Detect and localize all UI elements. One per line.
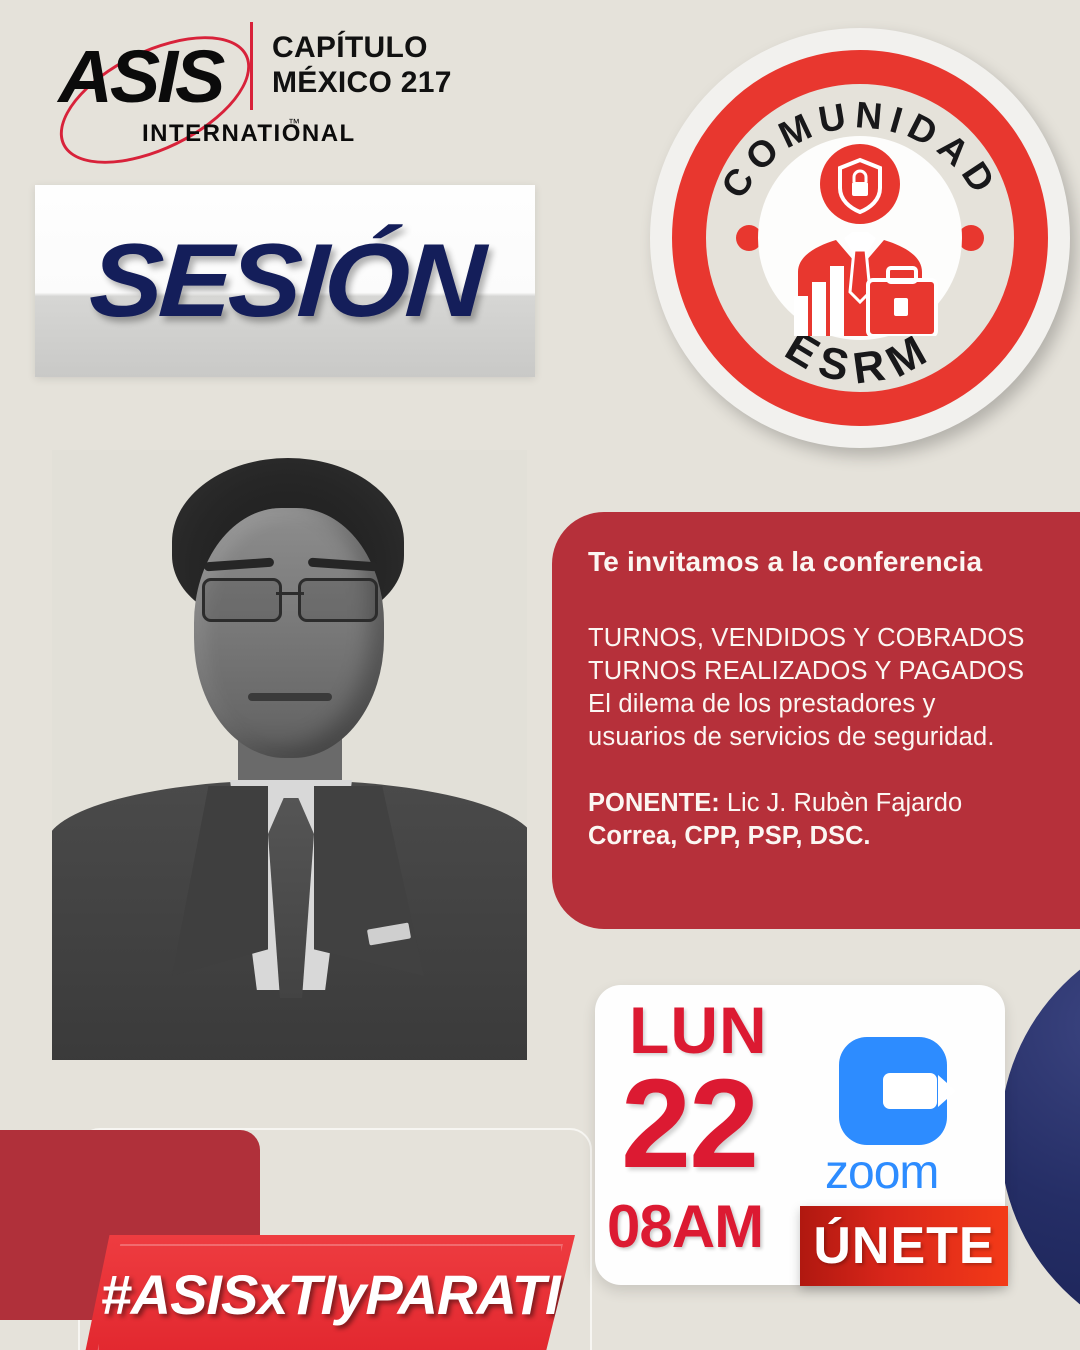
event-time: 08AM — [607, 1197, 763, 1257]
comunidad-esrm-badge: COMUNIDAD ESRM — [650, 28, 1070, 448]
navy-decor-circle — [1000, 922, 1080, 1350]
photo-face — [194, 508, 384, 758]
topic-line-1: TURNOS, VENDIDOS Y COBRADOS — [588, 622, 1044, 655]
photo-lens-right — [298, 578, 378, 622]
speaker-name-line-1: Lic J. Rubèn Fajardo — [720, 789, 962, 817]
speaker-name-line-2: Correa, CPP, PSP, DSC. — [588, 820, 1044, 854]
asis-logo-word: ASIS — [58, 40, 222, 114]
sesion-banner: SESIÓN — [35, 185, 535, 377]
photo-mouth — [248, 693, 332, 701]
security-professional-icon — [768, 140, 952, 336]
chapter-line-2: MÉXICO 217 — [272, 65, 452, 100]
day-number: 22 — [621, 1061, 757, 1187]
zoom-camera-icon — [839, 1037, 947, 1145]
photo-glasses-icon — [202, 578, 378, 618]
join-button[interactable]: ÚNETE — [800, 1206, 1008, 1286]
zoom-camera-body — [883, 1073, 937, 1109]
conference-info-panel: Te invitamos a la conferencia TURNOS, VE… — [552, 512, 1080, 929]
invitation-title: Te invitamos a la conferencia — [588, 546, 1044, 578]
topic-line-2: TURNOS REALIZADOS Y PAGADOS — [588, 655, 1044, 688]
speaker-label: PONENTE: — [588, 789, 720, 817]
hashtag-text: #ASISxTIyPARATI — [100, 1262, 559, 1327]
photo-lens-left — [202, 578, 282, 622]
speaker-photo — [52, 450, 527, 1060]
zoom-camera-lens — [938, 1075, 956, 1107]
panel-spacer — [588, 755, 1044, 787]
chapter-line-1: CAPÍTULO — [272, 30, 452, 65]
chapter-title: CAPÍTULO MÉXICO 217 — [272, 30, 452, 101]
join-button-label: ÚNETE — [813, 1220, 994, 1272]
header-divider — [250, 22, 253, 110]
hashtag-banner: #ASISxTIyPARATI — [85, 1235, 575, 1350]
asis-logo-subtitle: INTERNATIONAL — [142, 120, 356, 148]
trademark-icon: ™ — [288, 116, 300, 130]
sesion-title: SESIÓN — [87, 229, 484, 333]
speaker-credit: PONENTE: Lic J. Rubèn Fajardo Correa, CP… — [588, 787, 1044, 854]
zoom-logo[interactable]: zoom — [817, 1037, 987, 1197]
topic-line-4: usuarios de servicios de seguridad. — [588, 721, 1044, 754]
zoom-wordmark: zoom — [825, 1149, 938, 1197]
poster-canvas: ASIS INTERNATIONAL ™ CAPÍTULO MÉXICO 217… — [0, 0, 1080, 1350]
topic-line-3: El dilema de los prestadores y — [588, 688, 1044, 721]
